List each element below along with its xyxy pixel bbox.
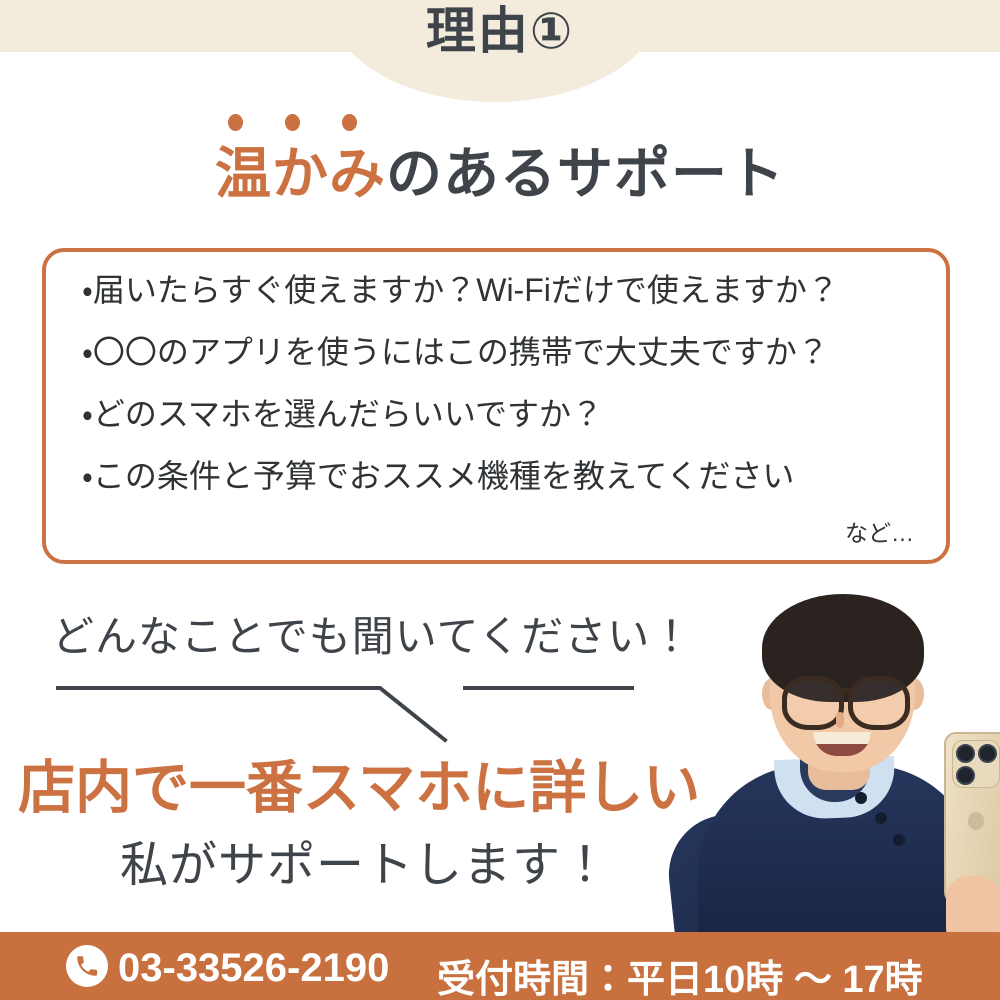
staff-photo <box>650 580 1000 935</box>
phone-icon[interactable] <box>66 945 108 987</box>
phone-logo <box>968 812 984 830</box>
contact-footer: 03-33526-2190 受付時間：平日10時 〜 17時 <box>0 932 1000 1000</box>
sweater-button <box>893 834 905 846</box>
sweater-button <box>875 812 887 824</box>
poster-root: 理由① 温かみのあるサポート ・届いたらすぐ使えますか？Wi-Fiだけで使えます… <box>0 0 1000 1000</box>
teeth <box>813 732 871 744</box>
glasses-lens-right <box>848 676 910 730</box>
glasses-bridge <box>834 688 850 693</box>
list-item: ・この条件と予算でおススメ機種を教えてください <box>82 460 926 492</box>
statement-gray: 私がサポートします！ <box>120 825 610 895</box>
emphasis-dots <box>228 114 368 134</box>
list-item: ・〇〇のアプリを使うにはこの携帯で大丈夫ですか？ <box>82 336 926 368</box>
glasses-lens-left <box>782 676 844 730</box>
emphasis-dot-icon <box>342 114 357 131</box>
emphasis-dot-icon <box>228 114 243 131</box>
nose <box>836 712 844 728</box>
camera-lens <box>956 744 975 763</box>
statement-orange: 店内で一番スマホに詳しい <box>18 742 700 824</box>
business-hours: 受付時間：平日10時 〜 17時 <box>437 948 923 1000</box>
list-item: ・届いたらすぐ使えますか？Wi-Fiだけで使えますか？ <box>82 274 926 306</box>
reason-badge-title: 理由① <box>0 6 1000 56</box>
mid-message: どんなことでも聞いてください！ <box>52 603 693 664</box>
phone-number[interactable]: 03-33526-2190 <box>118 946 389 991</box>
emphasis-dot-icon <box>285 114 300 131</box>
question-box-note: など… <box>845 514 914 548</box>
camera-lens <box>978 744 997 763</box>
speech-bubble-line <box>40 668 660 748</box>
hand <box>946 876 1000 935</box>
headline: 温かみのあるサポート <box>0 145 1000 204</box>
question-box: ・届いたらすぐ使えますか？Wi-Fiだけで使えますか？ ・〇〇のアプリを使うには… <box>42 248 950 564</box>
headline-rest: のあるサポート <box>386 142 785 205</box>
camera-lens <box>956 766 975 785</box>
list-item: ・どのスマホを選んだらいいですか？ <box>82 398 926 430</box>
question-list: ・届いたらすぐ使えますか？Wi-Fiだけで使えますか？ ・〇〇のアプリを使うには… <box>82 274 926 522</box>
headline-accent: 温かみ <box>215 142 386 205</box>
sweater-button <box>855 792 867 804</box>
